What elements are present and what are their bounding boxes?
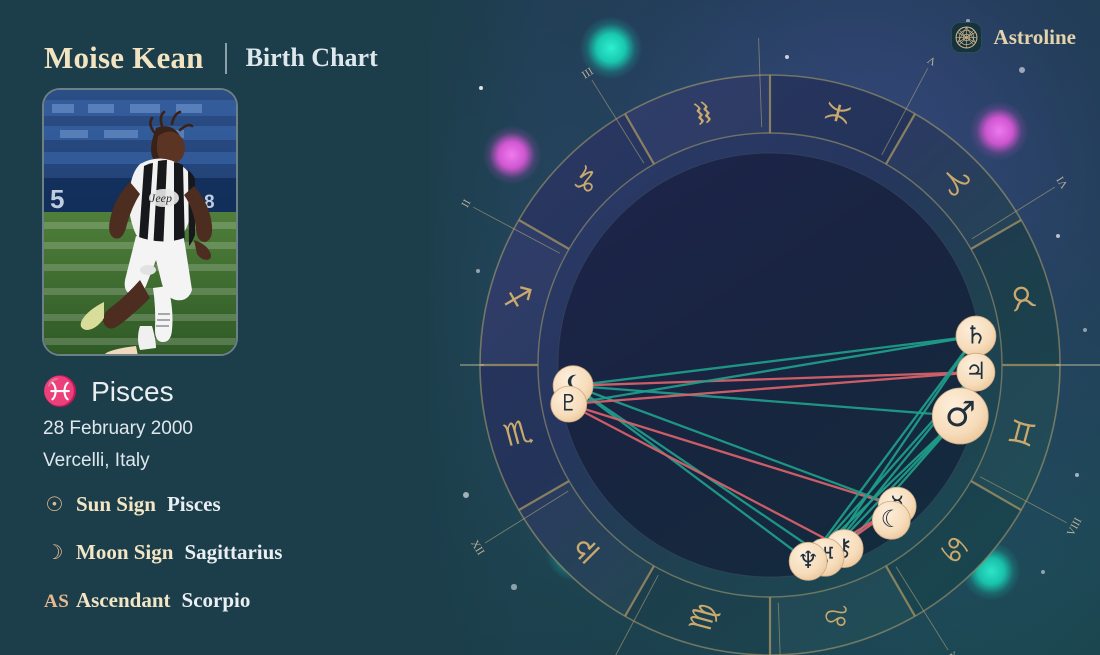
house-cusp-label: II <box>460 197 472 209</box>
birth-chart-page: Moise Kean Birth Chart Astroline <box>0 0 1100 655</box>
page-title: Moise Kean Birth Chart <box>44 40 378 76</box>
person-name: Moise Kean <box>44 40 204 76</box>
sun-icon: ☉ <box>44 492 65 516</box>
sun-sign-headline: ♓ Pisces <box>42 376 174 408</box>
title-divider <box>225 43 227 74</box>
attribute-label: Ascendant <box>76 588 171 613</box>
ascendant-icon: AS <box>44 591 65 613</box>
attribute-list: ☉ Sun Sign Pisces ☽ Moon Sign Sagittariu… <box>44 492 282 613</box>
house-cusp-label: VI <box>1054 174 1071 190</box>
birth-date: 28 February 2000 <box>43 418 193 440</box>
planet-token[interactable]: ♂Mars <box>932 388 988 444</box>
attribute-label: Sun Sign <box>76 492 156 517</box>
planet-glyph: ♂ <box>945 395 976 435</box>
house-cusp-label: III <box>579 64 595 80</box>
attribute-value: Sagittarius <box>184 540 282 565</box>
planet-token[interactable]: ☾Moon <box>872 501 910 539</box>
planet-glyph: ☾ <box>881 505 902 533</box>
planet-token[interactable]: ♇Pluto <box>551 386 587 422</box>
attribute-row-ascendant: AS Ascendant Scorpio <box>44 588 282 613</box>
page-subtitle: Birth Chart <box>246 43 378 73</box>
sun-sign-name: Pisces <box>91 376 173 408</box>
house-cusp-label: V <box>926 53 939 67</box>
attribute-value: Scorpio <box>182 588 251 613</box>
planet-glyph: ♇ <box>559 391 579 417</box>
attribute-row-sun: ☉ Sun Sign Pisces <box>44 492 282 517</box>
moon-icon: ☽ <box>44 540 65 564</box>
planet-token[interactable]: ♄Saturn <box>956 316 996 356</box>
svg-text:Jeep: Jeep <box>150 191 172 205</box>
planet-glyph: ♄ <box>965 320 987 349</box>
pisces-icon: ♓ <box>42 378 78 407</box>
attribute-row-moon: ☽ Moon Sign Sagittarius <box>44 540 282 565</box>
attribute-value: Pisces <box>167 492 221 517</box>
planet-token[interactable]: ♃Jupiter <box>957 353 995 391</box>
avatar: 5 card 8 <box>42 88 238 356</box>
svg-text:5: 5 <box>50 184 64 214</box>
planet-glyph: ♆ <box>798 546 819 574</box>
attribute-label: Moon Sign <box>76 540 173 565</box>
natal-chart-wheel[interactable]: ♏♎♍♌♋♊♉♈♓♒♑♐AscXIIXIXIXVIIIDscVIVIVIIIII… <box>460 38 1100 655</box>
birth-place: Vercelli, Italy <box>43 450 150 472</box>
planet-glyph: ♃ <box>965 357 986 385</box>
inner-disc <box>558 153 982 577</box>
planet-token[interactable]: ♆Neptune <box>789 542 827 580</box>
